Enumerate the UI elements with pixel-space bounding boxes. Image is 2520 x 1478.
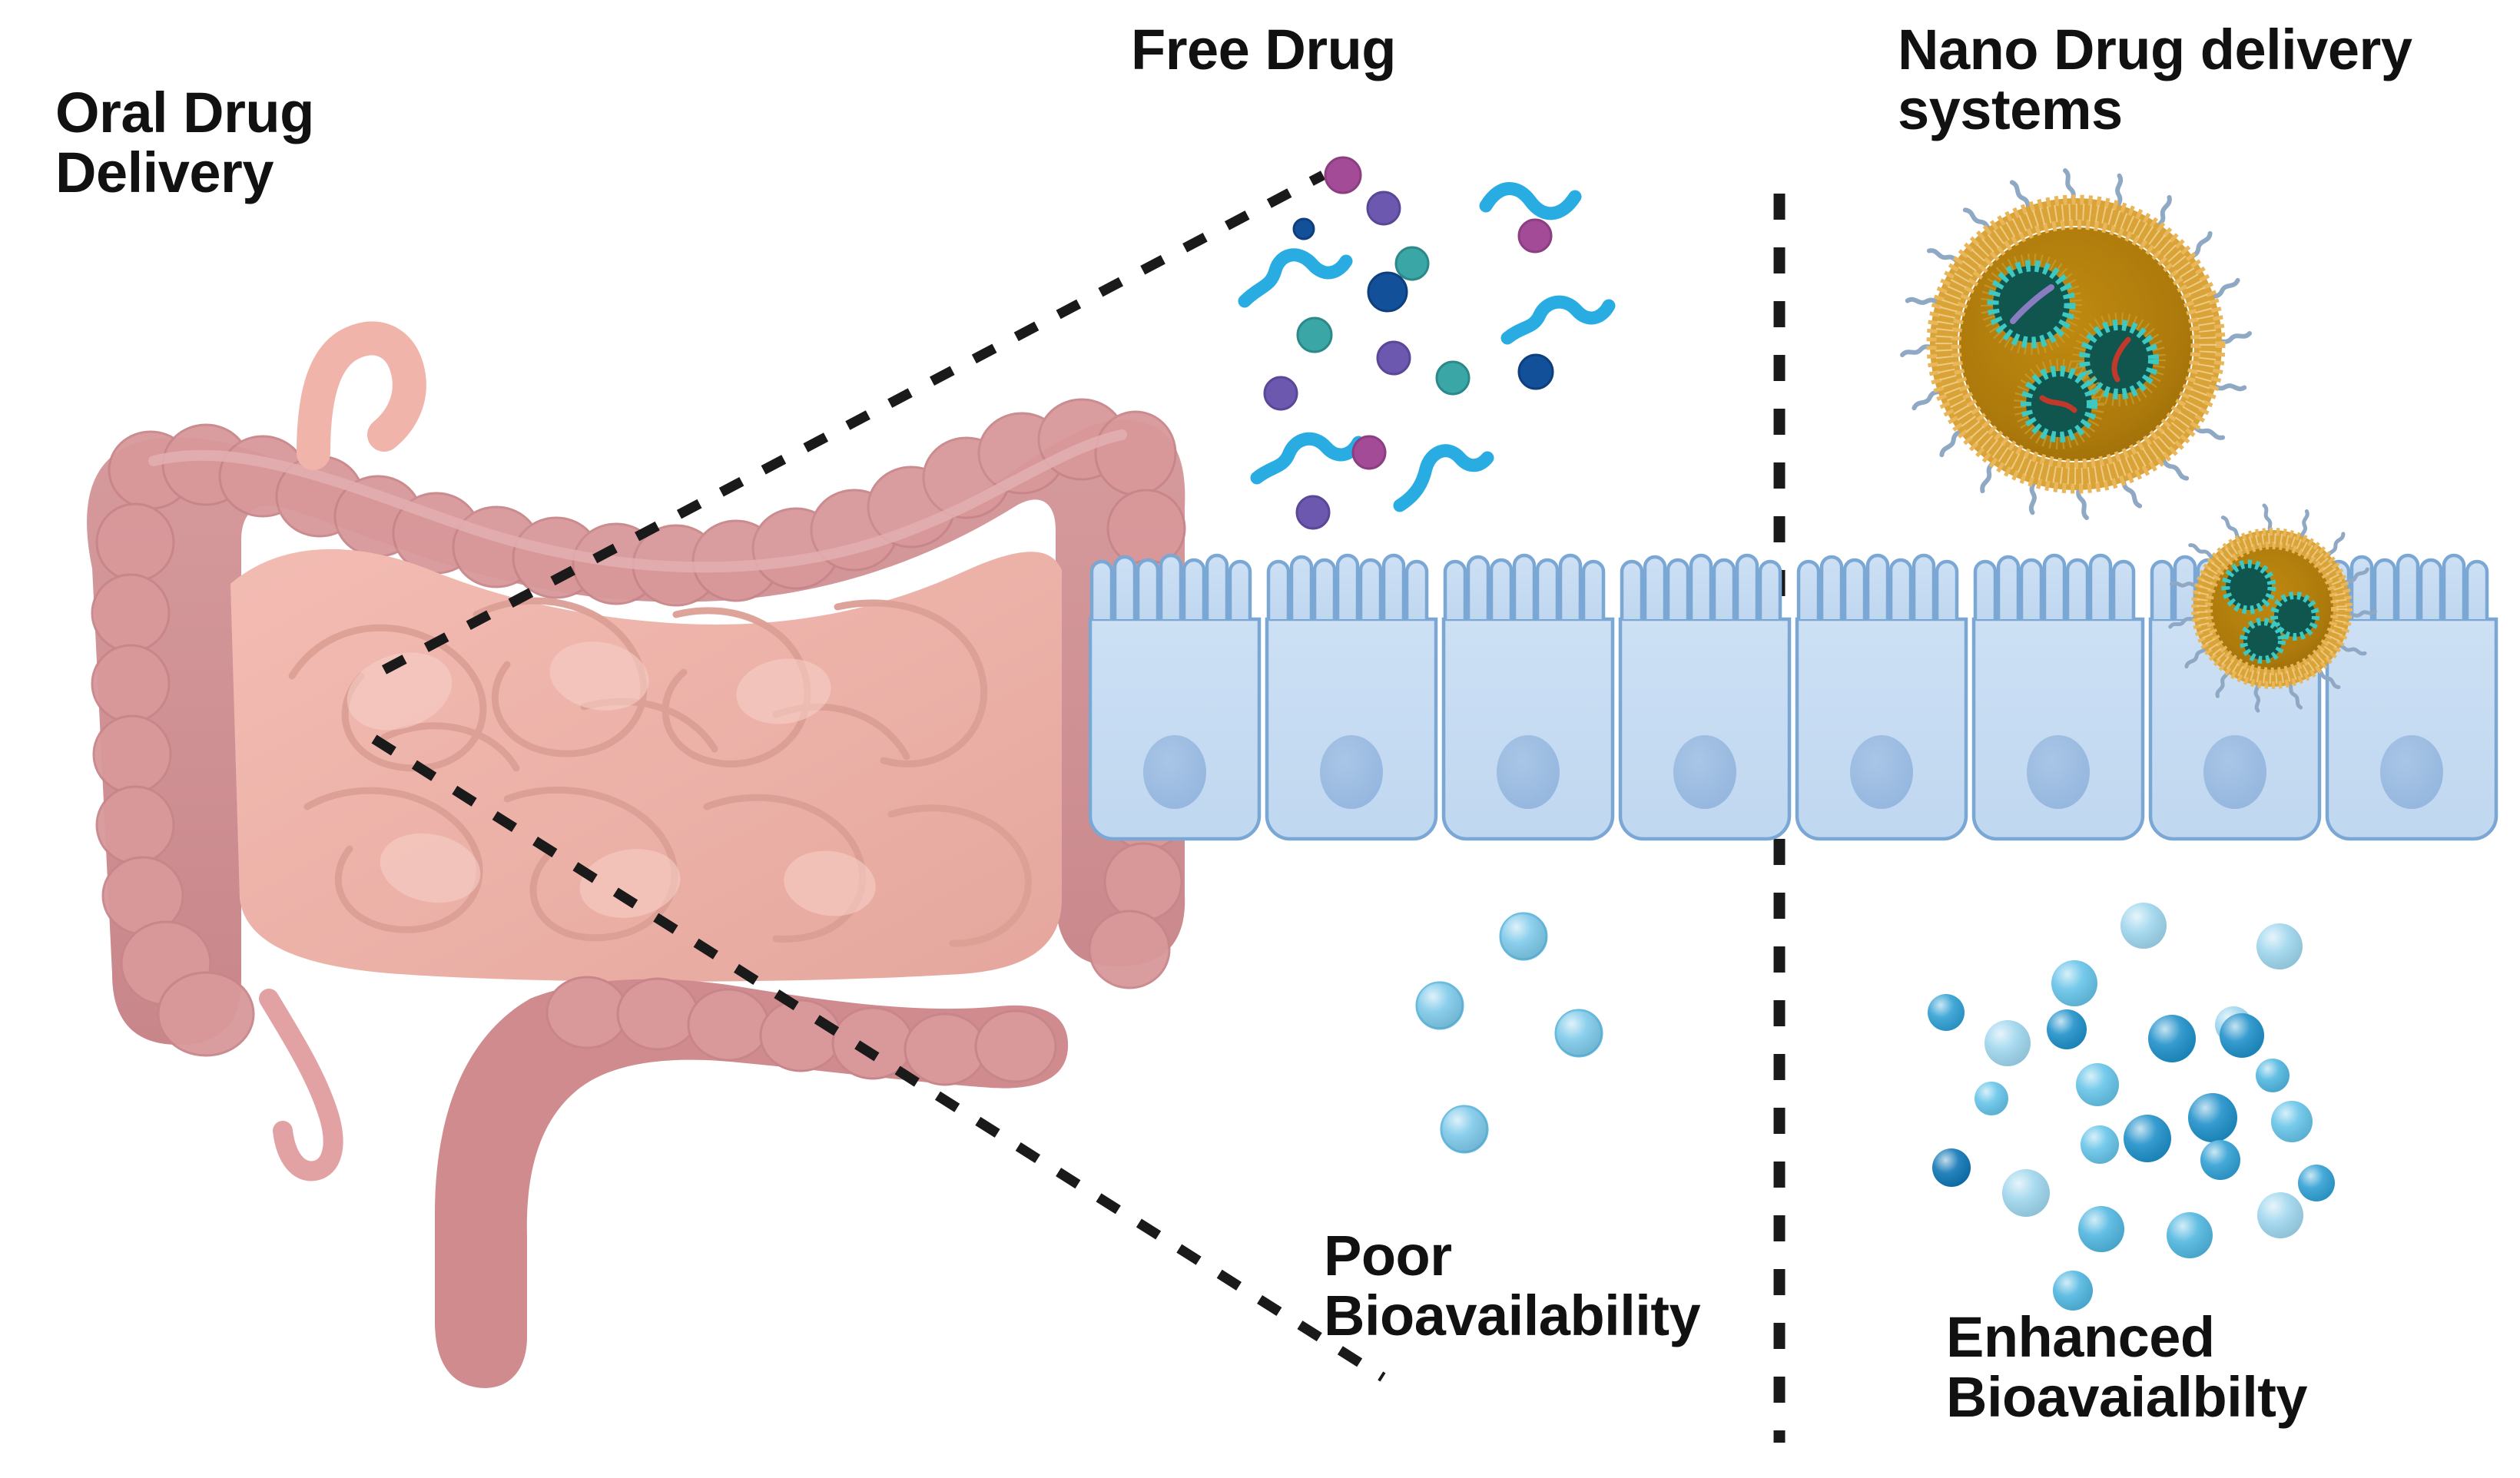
drug-squiggle-icon <box>1257 439 1358 478</box>
duodenum-stub <box>313 338 409 453</box>
drug-particle <box>1396 247 1428 280</box>
nucleus <box>1320 735 1383 809</box>
intestine-illustration <box>87 338 1186 1388</box>
small-intestine <box>230 549 1062 982</box>
poor-bioavailability-particles <box>1417 913 1602 1152</box>
drug-squiggle-icon <box>1486 188 1575 213</box>
illustration-layer <box>0 0 2520 1478</box>
epithelial-cell <box>1620 555 1789 839</box>
nucleus <box>2027 735 2090 809</box>
nucleus <box>1673 735 1736 809</box>
nucleus <box>2380 735 2443 809</box>
drug-particle <box>1325 157 1361 193</box>
free-drug-particle-cloud <box>1245 157 1609 529</box>
drug-squiggle-icon <box>1245 255 1346 301</box>
drug-squiggle-icon <box>1507 302 1609 338</box>
rectum <box>435 977 1068 1388</box>
label-oral-drug-delivery: Oral Drug Delivery <box>55 83 314 204</box>
drug-particle <box>1378 342 1410 374</box>
inner-vesicle <box>2226 564 2272 610</box>
appendix <box>269 999 333 1171</box>
label-nano-drug-delivery-systems: Nano Drug delivery systems <box>1898 20 2482 141</box>
epithelial-cell <box>1797 555 1966 839</box>
enhanced-bioavailability-particles <box>1928 903 2335 1311</box>
drug-particle <box>1265 377 1297 409</box>
drug-particle <box>1368 273 1407 311</box>
nucleus <box>1143 735 1206 809</box>
epithelial-cell <box>1090 555 1259 839</box>
drug-particle <box>1437 362 1469 394</box>
epithelial-cell <box>1444 555 1613 839</box>
label-poor-bioavailability: Poor Bioavailability <box>1324 1226 1700 1347</box>
label-enhanced-bioavailability: Enhanced Bioavaialbilty <box>1946 1307 2307 1428</box>
epithelial-cell <box>2327 555 2496 839</box>
nucleus <box>2203 735 2266 809</box>
drug-particle <box>1297 496 1329 529</box>
nucleus <box>1497 735 1560 809</box>
nucleus <box>1850 735 1913 809</box>
epithelial-cell <box>1267 555 1436 839</box>
drug-particle <box>1519 355 1553 389</box>
label-free-drug: Free Drug <box>1131 20 1396 80</box>
drug-particle <box>1294 219 1314 239</box>
epithelial-cell <box>1974 555 2143 839</box>
drug-squiggle-icon <box>1400 451 1487 505</box>
drug-particle <box>1519 220 1551 252</box>
drug-particle <box>1368 192 1400 224</box>
drug-particle <box>1353 436 1385 469</box>
large-nano-drug-carrier <box>1902 171 2250 518</box>
inner-vesicle <box>2243 621 2282 660</box>
drug-particle <box>1298 318 1331 352</box>
diagram-canvas: Oral Drug Delivery Free Drug Nano Drug d… <box>0 0 2520 1478</box>
